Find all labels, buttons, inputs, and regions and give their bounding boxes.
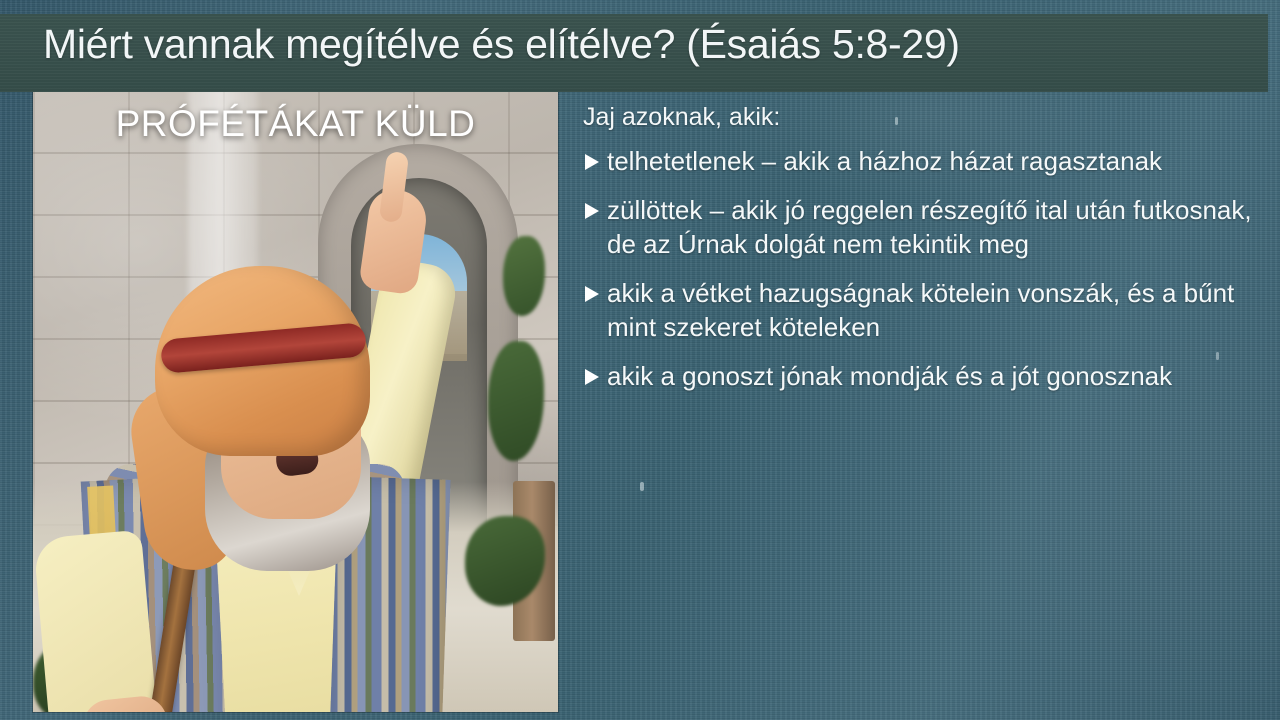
slide-canvas: Miért vannak megítélve és elítélve? (Ésa… xyxy=(0,0,1280,720)
intro-line: Jaj azoknak, akik: xyxy=(583,100,1273,134)
triangle-right-icon xyxy=(583,153,605,171)
page-title: Miért vannak megítélve és elítélve? (Ésa… xyxy=(43,19,1223,69)
list-item-label: akik a gonoszt jónak mondják és a jót go… xyxy=(607,359,1172,393)
list-item: akik a vétket hazugságnak kötelein vonsz… xyxy=(583,276,1273,344)
prophet-photo: PRÓFÉTÁKAT KÜLD xyxy=(33,86,558,712)
list-item-label: züllöttek – akik jó reggelen részegítő i… xyxy=(607,193,1273,261)
texture-speck xyxy=(640,482,644,491)
list-item: telhetetlenek – akik a házhoz házat raga… xyxy=(583,144,1273,178)
triangle-right-icon xyxy=(583,285,605,303)
list-item-label: telhetetlenek – akik a házhoz házat raga… xyxy=(607,144,1162,178)
picture-caption: PRÓFÉTÁKAT KÜLD xyxy=(33,102,558,146)
triangle-right-icon xyxy=(583,202,605,220)
list-item: züllöttek – akik jó reggelen részegítő i… xyxy=(583,193,1273,261)
body-content: Jaj azoknak, akik: telhetetlenek – akik … xyxy=(583,100,1273,408)
left-sleeve xyxy=(33,530,161,712)
triangle-right-icon xyxy=(583,368,605,386)
list-item-label: akik a vétket hazugságnak kötelein vonsz… xyxy=(607,276,1273,344)
list-item: akik a gonoszt jónak mondják és a jót go… xyxy=(583,359,1273,393)
